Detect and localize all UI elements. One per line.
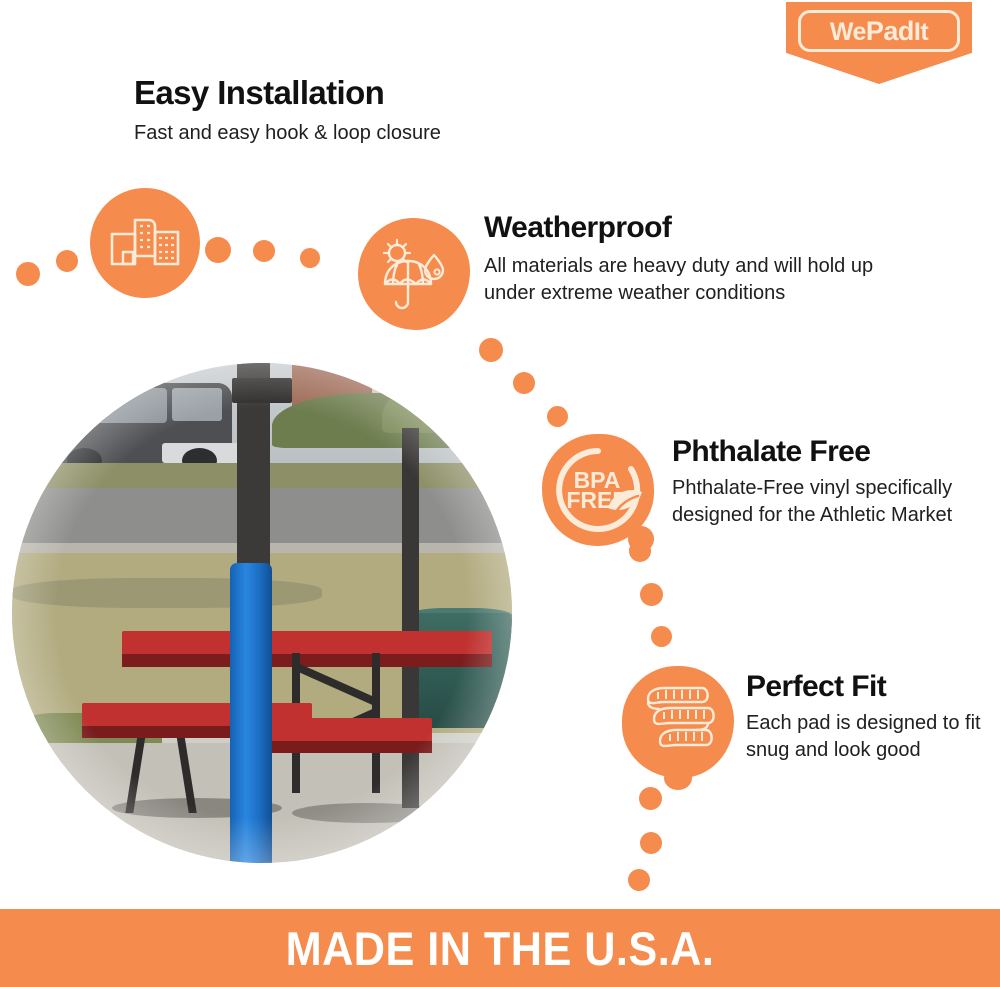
trail-dot bbox=[205, 237, 231, 263]
building-icon bbox=[90, 188, 200, 298]
feature-title: Perfect Fit bbox=[746, 671, 986, 703]
trail-dot bbox=[479, 338, 503, 362]
trail-dot bbox=[300, 248, 320, 268]
photo-edge-fade bbox=[12, 363, 512, 863]
feature-title: Phthalate Free bbox=[672, 436, 972, 468]
feature-description: Each pad is designed to fit snug and loo… bbox=[746, 710, 986, 765]
measuring-tape-icon bbox=[622, 666, 734, 778]
logo-text-pad: Pad bbox=[866, 16, 914, 47]
trail-dot bbox=[56, 250, 78, 272]
trail-dot bbox=[640, 832, 662, 854]
trail-dot bbox=[640, 583, 663, 606]
trail-dot bbox=[513, 372, 535, 394]
trail-dot bbox=[253, 240, 275, 262]
logo-text: WePadIt bbox=[830, 16, 928, 47]
product-photo bbox=[12, 363, 512, 863]
icon-accent-dot bbox=[664, 766, 692, 790]
feature-title: Weatherproof bbox=[484, 212, 924, 244]
infographic-page: WePadIt Easy Installation Fast and easy … bbox=[0, 0, 1000, 987]
feature-perfect-fit: Perfect Fit Each pad is designed to fit … bbox=[746, 671, 986, 765]
bpa-free-leaf-icon: BPA FREE bbox=[542, 434, 654, 546]
feature-easy-installation: Easy Installation Fast and easy hook & l… bbox=[134, 76, 554, 147]
banner-text: MADE IN THE U.S.A. bbox=[286, 921, 715, 976]
trail-dot bbox=[547, 406, 568, 427]
feature-description: Phthalate-Free vinyl specifically design… bbox=[672, 475, 972, 530]
logo-text-we: We bbox=[830, 18, 866, 47]
trail-dot bbox=[628, 869, 650, 891]
icon-accent-dot bbox=[628, 526, 654, 552]
trail-dot bbox=[639, 787, 662, 810]
logo-border-frame: WePadIt bbox=[798, 10, 960, 52]
feature-title: Easy Installation bbox=[134, 76, 554, 111]
trail-dot bbox=[651, 626, 672, 647]
feature-phthalate-free: Phthalate Free Phthalate-Free vinyl spec… bbox=[672, 436, 972, 530]
feature-description: All materials are heavy duty and will ho… bbox=[484, 253, 924, 308]
umbrella-sun-rain-icon bbox=[358, 218, 470, 330]
made-in-usa-banner: MADE IN THE U.S.A. bbox=[0, 909, 1000, 987]
brand-logo[interactable]: WePadIt bbox=[786, 2, 972, 84]
trail-dot bbox=[16, 262, 40, 286]
feature-weatherproof: Weatherproof All materials are heavy dut… bbox=[484, 212, 924, 308]
feature-description: Fast and easy hook & loop closure bbox=[134, 120, 554, 148]
logo-text-it: It bbox=[914, 18, 928, 47]
